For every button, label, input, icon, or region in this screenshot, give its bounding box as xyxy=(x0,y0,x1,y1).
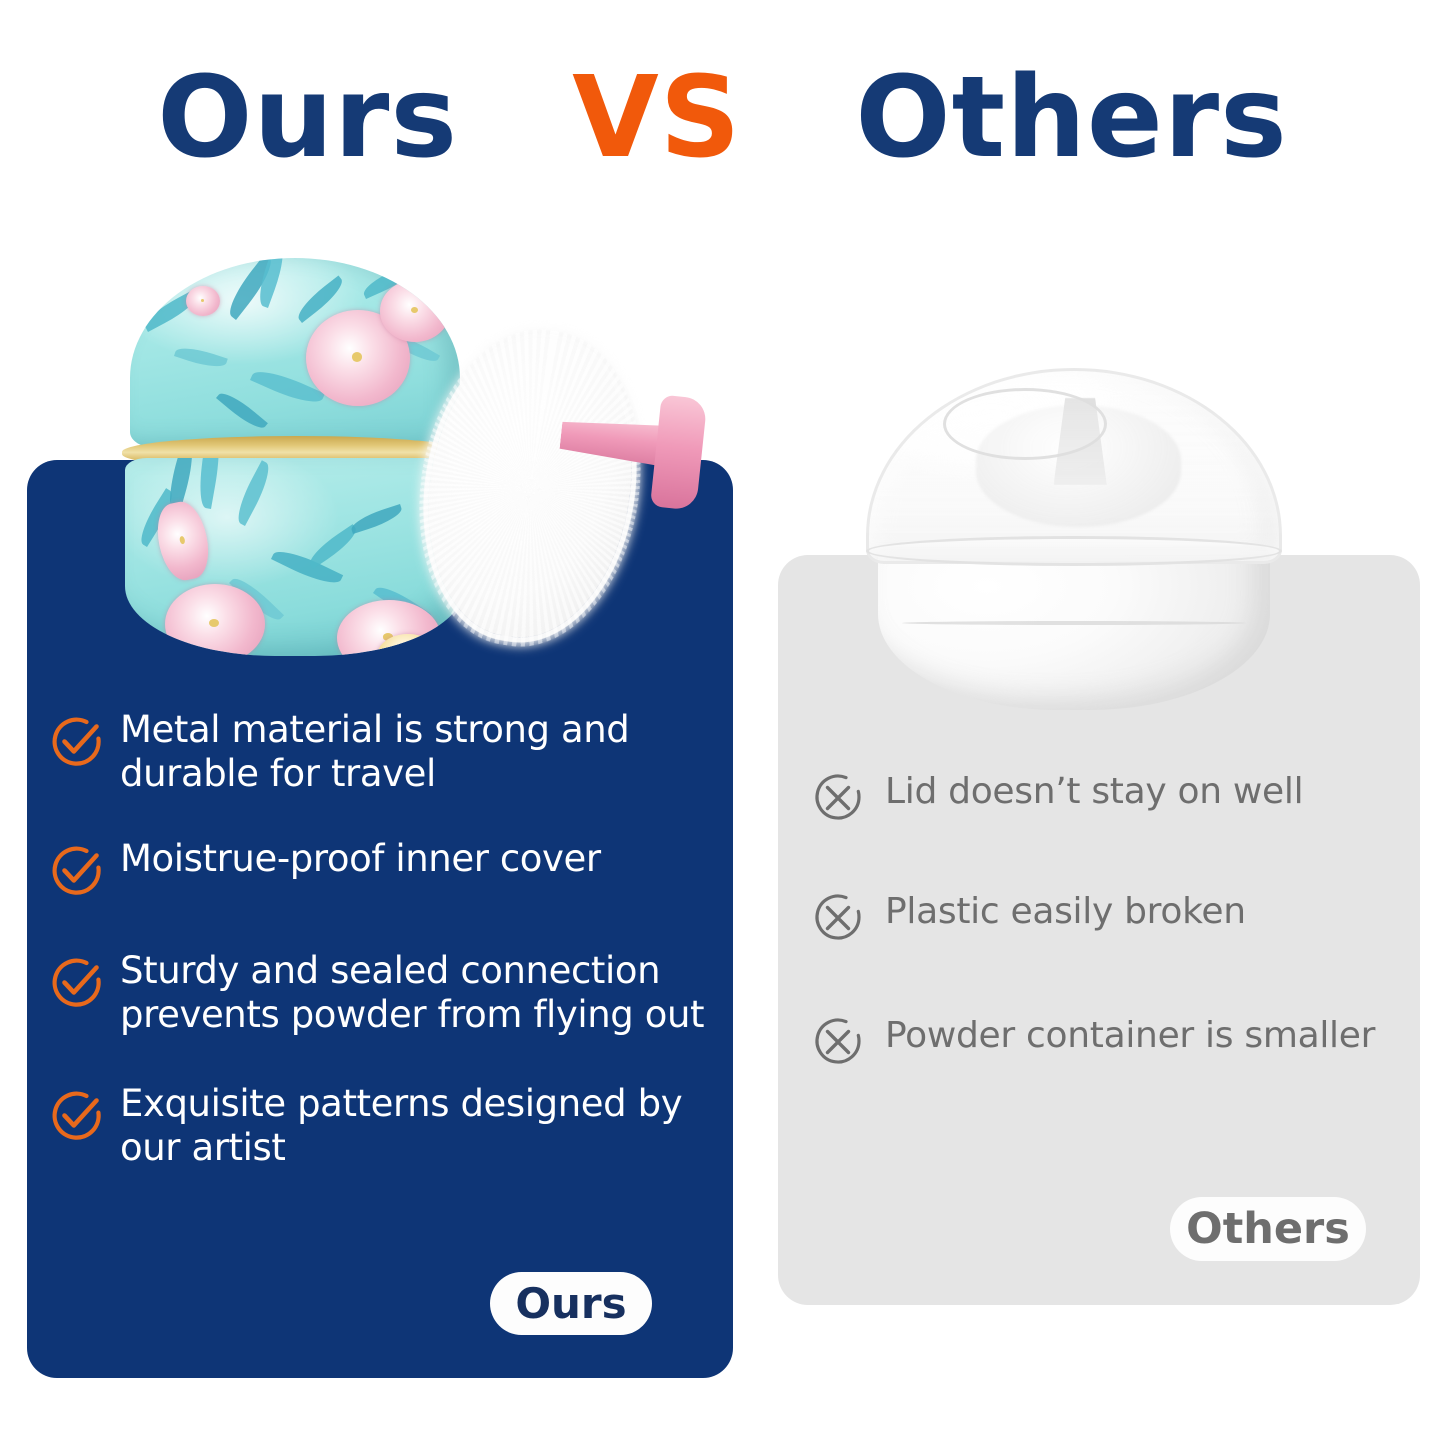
list-item: Sturdy and sealed connection prevents po… xyxy=(50,949,730,1038)
others-product-image xyxy=(860,360,1290,720)
check-circle-icon xyxy=(50,714,120,772)
puff-pink-handle xyxy=(555,385,714,512)
x-circle-icon xyxy=(812,772,885,828)
list-item-label: Moistrue-proof inner cover xyxy=(120,837,601,881)
ours-product-image xyxy=(100,240,720,680)
title-word-vs: VS xyxy=(572,62,741,174)
x-circle-icon xyxy=(812,1016,885,1072)
page-title: Ours VS Others xyxy=(0,62,1445,174)
jar-lid xyxy=(130,258,460,448)
check-circle-icon xyxy=(50,955,120,1013)
list-item-label: Metal material is strong and durable for… xyxy=(120,708,730,797)
list-item: Metal material is strong and durable for… xyxy=(50,708,730,797)
list-item: Moistrue-proof inner cover xyxy=(50,837,730,901)
jar-body xyxy=(125,458,465,656)
list-item: Lid doesn’t stay on well xyxy=(812,770,1412,828)
list-item-label: Plastic easily broken xyxy=(885,890,1246,933)
others-badge-label: Others xyxy=(1186,1204,1350,1254)
ours-feature-list: Metal material is strong and durable for… xyxy=(50,708,730,1170)
list-item-label: Lid doesn’t stay on well xyxy=(885,770,1303,813)
list-item-label: Sturdy and sealed connection prevents po… xyxy=(120,949,730,1038)
dome-rim xyxy=(866,536,1282,566)
title-word-others: Others xyxy=(855,62,1287,174)
x-circle-icon xyxy=(812,892,885,948)
ours-badge-label: Ours xyxy=(515,1279,626,1328)
plastic-container-base xyxy=(878,545,1270,710)
check-circle-icon xyxy=(50,1088,120,1146)
list-item-label: Exquisite patterns designed by our artis… xyxy=(120,1082,730,1171)
others-badge: Others xyxy=(1170,1197,1366,1261)
clear-dome-lid xyxy=(866,368,1282,564)
list-item: Plastic easily broken xyxy=(812,890,1412,948)
others-drawback-list: Lid doesn’t stay on well Plastic easily … xyxy=(812,770,1412,1072)
dome-highlight-ring xyxy=(943,388,1107,460)
list-item-label: Powder container is smaller xyxy=(885,1014,1375,1057)
title-word-ours: Ours xyxy=(157,62,458,174)
ours-badge: Ours xyxy=(490,1272,652,1335)
list-item: Powder container is smaller xyxy=(812,1014,1412,1072)
list-item: Exquisite patterns designed by our artis… xyxy=(50,1082,730,1171)
check-circle-icon xyxy=(50,843,120,901)
